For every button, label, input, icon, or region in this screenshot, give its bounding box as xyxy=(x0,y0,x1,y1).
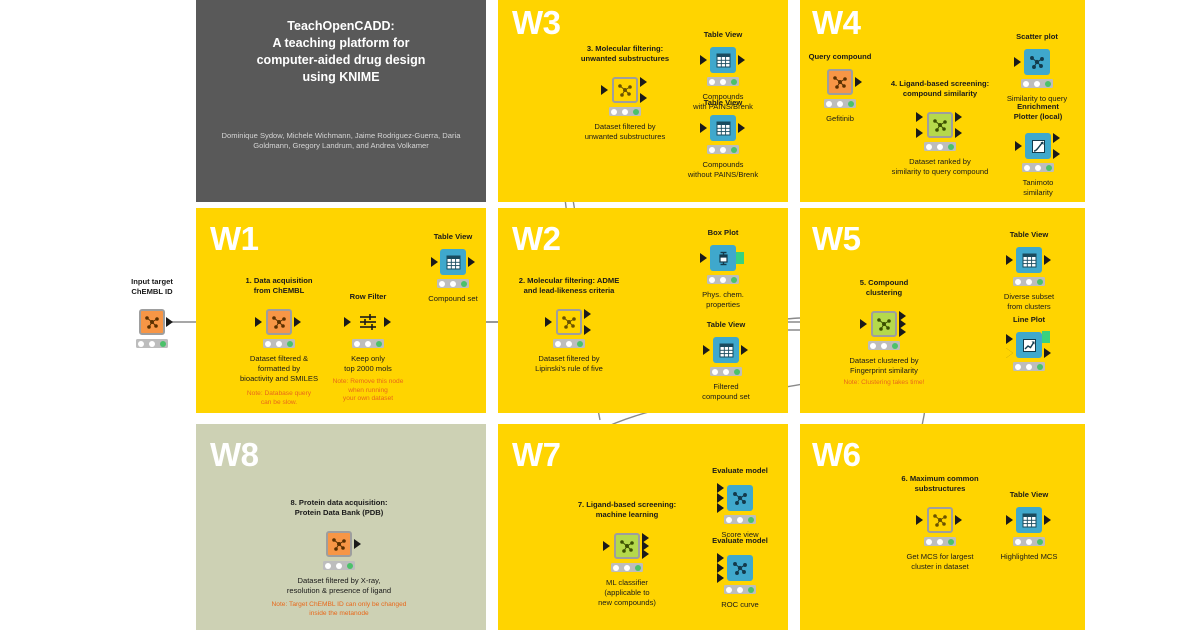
panel-label-w3: W3 xyxy=(512,6,561,39)
molecule-icon xyxy=(612,77,638,103)
table-icon xyxy=(710,115,736,141)
output-port xyxy=(294,317,301,327)
output-port xyxy=(1044,515,1051,525)
input-port xyxy=(916,515,923,525)
input-port xyxy=(601,85,608,95)
status-indicator xyxy=(323,561,355,570)
title-card: TeachOpenCADD: A teaching platform for c… xyxy=(196,0,486,202)
node-caption: Tanimoto similarity xyxy=(988,178,1088,198)
status-indicator xyxy=(824,99,856,108)
input-port xyxy=(703,345,710,355)
output-port-2 xyxy=(955,128,962,138)
status-indicator xyxy=(924,537,956,546)
node-title: Table View xyxy=(673,30,773,40)
node-caption: Keep only top 2000 mols xyxy=(308,354,428,374)
input-port xyxy=(344,317,351,327)
node-caption: Dataset filtered by Lipinski's rule of f… xyxy=(504,354,634,374)
output-port xyxy=(955,515,962,525)
input-port xyxy=(1014,57,1021,67)
node-caption: Highlighted MCS xyxy=(974,552,1084,562)
row-filter-icon xyxy=(357,311,379,333)
enrichment-plot-icon xyxy=(1025,133,1051,159)
node-caption: ML classifier (applicable to new compoun… xyxy=(565,578,689,608)
table-icon xyxy=(713,337,739,363)
output-port-1 xyxy=(1053,133,1060,143)
molecule-icon xyxy=(871,311,897,337)
node-title: Table View xyxy=(673,98,773,108)
node-title: Table View xyxy=(403,232,503,242)
input-port xyxy=(700,123,707,133)
molecule-icon xyxy=(827,69,853,95)
input-port xyxy=(860,319,867,329)
node-caption: Dataset filtered by unwanted substructur… xyxy=(555,122,695,142)
molecule-icon xyxy=(326,531,352,557)
input-port xyxy=(603,541,610,551)
output-port-3 xyxy=(642,549,649,559)
node-caption: Phys. chem. properties xyxy=(668,290,778,310)
node-title: 5. Compound clustering xyxy=(824,278,944,298)
output-port-1 xyxy=(640,77,647,87)
input-port-3 xyxy=(717,503,724,513)
input-port xyxy=(700,253,707,263)
status-indicator xyxy=(1013,537,1045,546)
panel-label-w5: W5 xyxy=(812,222,861,255)
status-indicator xyxy=(609,107,641,116)
node-title: Scatter plot xyxy=(987,32,1087,42)
node-title: Box Plot xyxy=(673,228,773,238)
node-title: Query compound xyxy=(785,52,895,62)
panel-label-w2: W2 xyxy=(512,222,561,255)
node-title: Table View xyxy=(979,230,1079,240)
workflow-overview: TeachOpenCADD: A teaching platform for c… xyxy=(0,0,1200,630)
output-port xyxy=(166,317,173,327)
molecule-icon xyxy=(927,507,953,533)
panel-label-w8: W8 xyxy=(210,438,259,471)
status-indicator xyxy=(437,279,469,288)
input-port xyxy=(1006,515,1013,525)
molecule-icon xyxy=(927,112,953,138)
node-caption: Filtered compound set xyxy=(666,382,786,402)
molecule-icon xyxy=(614,533,640,559)
molecule-icon xyxy=(556,309,582,335)
output-port-1 xyxy=(584,309,591,319)
node-note: Note: Remove this node when running your… xyxy=(308,378,428,404)
node-caption: Dataset ranked by similarity to query co… xyxy=(850,157,1030,177)
output-port-2 xyxy=(640,93,647,103)
input-port-2 xyxy=(717,493,724,503)
paper-title: TeachOpenCADD: A teaching platform for c… xyxy=(196,18,486,86)
status-indicator xyxy=(611,563,643,572)
status-indicator xyxy=(924,142,956,151)
node-title: 3. Molecular filtering: unwanted substru… xyxy=(541,44,709,64)
status-indicator xyxy=(352,339,384,348)
image-output-port xyxy=(1042,331,1050,343)
input-port xyxy=(700,55,707,65)
node-title: Evaluate model xyxy=(685,466,795,476)
node-title: Table View xyxy=(676,320,776,330)
input-port-1 xyxy=(916,112,923,122)
table-icon xyxy=(440,249,466,275)
node-caption: Gefitinib xyxy=(790,114,890,124)
output-port-2 xyxy=(1053,149,1060,159)
input-port xyxy=(545,317,552,327)
output-port xyxy=(741,345,748,355)
status-indicator xyxy=(553,339,585,348)
status-indicator xyxy=(707,145,739,154)
scatter-plot-icon xyxy=(727,555,753,581)
box-plot-icon xyxy=(710,245,736,271)
input-port xyxy=(255,317,262,327)
paper-authors: Dominique Sydow, Michele Wichmann, Jaime… xyxy=(218,131,464,152)
status-indicator xyxy=(707,77,739,86)
input-port-2 xyxy=(916,128,923,138)
output-port-3 xyxy=(899,327,906,337)
node-title: 2. Molecular filtering: ADME and lead-li… xyxy=(487,276,651,296)
node-title: 7. Ligand-based screening: machine learn… xyxy=(543,500,711,520)
table-icon xyxy=(1016,247,1042,273)
molecule-icon xyxy=(266,309,292,335)
node-title: Enrichment Plotter (local) xyxy=(983,102,1093,122)
optional-input-port xyxy=(1006,348,1013,358)
input-port-1 xyxy=(717,553,724,563)
output-port xyxy=(1044,255,1051,265)
output-port xyxy=(468,257,475,267)
input-port-2 xyxy=(717,563,724,573)
node-caption: Compounds without PAINS/Brenk xyxy=(653,160,793,180)
node-caption: Dataset filtered by X-ray, resolution & … xyxy=(249,576,429,596)
node-title: 8. Protein data acquisition: Protein Dat… xyxy=(254,498,424,518)
input-port xyxy=(1006,334,1013,344)
node-caption: Diverse subset from clusters xyxy=(971,292,1087,312)
scatter-plot-icon xyxy=(1024,49,1050,75)
output-port xyxy=(1044,348,1051,358)
status-indicator xyxy=(1013,277,1045,286)
status-indicator xyxy=(710,367,742,376)
input-port xyxy=(431,257,438,267)
line-plot-icon xyxy=(1016,332,1042,358)
node-title: Line Plot xyxy=(979,315,1079,325)
node-title: Table View xyxy=(979,490,1079,500)
panel-label-w7: W7 xyxy=(512,438,561,471)
node-caption: ROC curve xyxy=(690,600,790,610)
status-indicator xyxy=(724,585,756,594)
node-note: Note: Target ChEMBL ID can only be chang… xyxy=(244,601,434,618)
status-indicator xyxy=(1022,163,1054,172)
status-indicator xyxy=(263,339,295,348)
panel-label-w4: W4 xyxy=(812,6,861,39)
status-indicator xyxy=(707,275,739,284)
output-port xyxy=(354,539,361,549)
table-icon xyxy=(710,47,736,73)
input-port xyxy=(1006,255,1013,265)
output-port xyxy=(738,123,745,133)
node-title: Evaluate model xyxy=(685,536,795,546)
panel-label-w6: W6 xyxy=(812,438,861,471)
output-port xyxy=(738,55,745,65)
node-note: Note: Clustering takes time! xyxy=(816,379,952,388)
input-port-1 xyxy=(717,483,724,493)
panel-label-w1: W1 xyxy=(210,222,259,255)
status-indicator xyxy=(868,341,900,350)
scatter-plot-icon xyxy=(727,485,753,511)
status-indicator xyxy=(1021,79,1053,88)
output-port-2 xyxy=(584,325,591,335)
output-port xyxy=(384,317,391,327)
node-caption: Dataset clustered by Fingerprint similar… xyxy=(816,356,952,376)
status-indicator xyxy=(136,339,168,348)
table-icon xyxy=(1016,507,1042,533)
status-indicator xyxy=(1013,362,1045,371)
input-port xyxy=(1015,141,1022,151)
input-port-3 xyxy=(717,573,724,583)
output-port-1 xyxy=(955,112,962,122)
status-indicator xyxy=(724,515,756,524)
image-output-port xyxy=(736,252,744,264)
node-title: Input target ChEMBL ID xyxy=(97,277,207,297)
molecule-icon xyxy=(139,309,165,335)
